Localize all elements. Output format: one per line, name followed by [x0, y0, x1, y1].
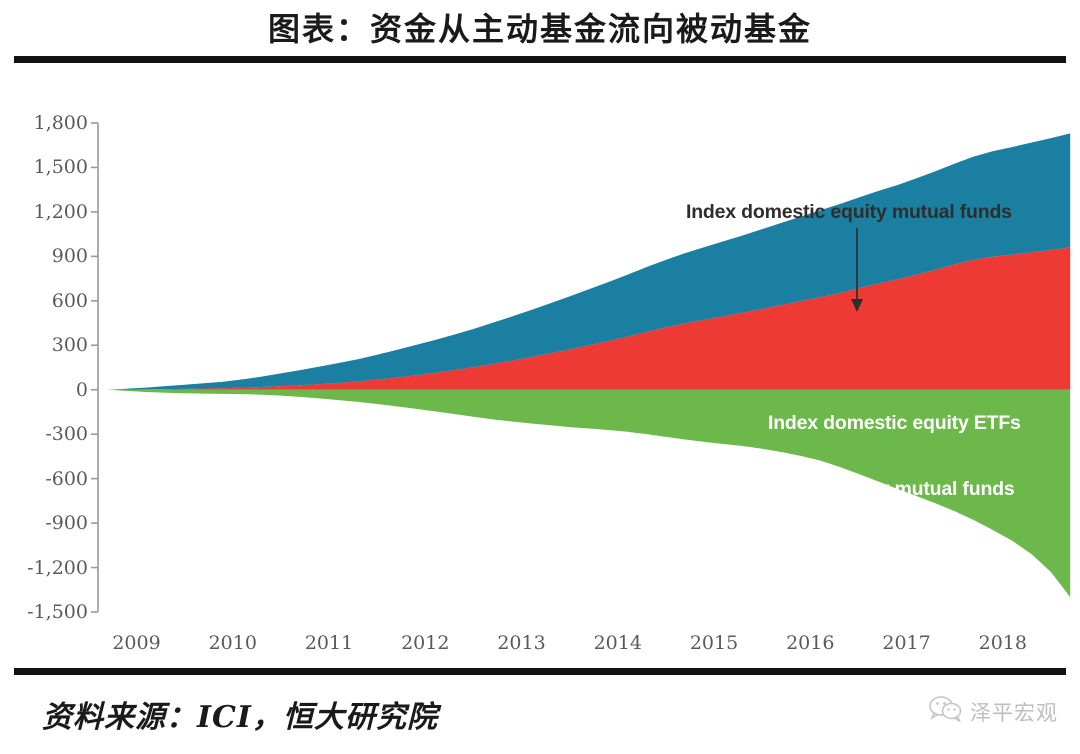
wechat-icon — [929, 696, 963, 727]
series-label-index-mutual-funds: Index domestic equity mutual funds — [686, 201, 1012, 224]
header-divider — [14, 56, 1066, 63]
x-axis-tick: 2018 — [958, 634, 1048, 653]
x-axis-tick: 2013 — [477, 634, 567, 653]
header: 图表：资金从主动基金流向被动基金 — [0, 0, 1080, 62]
x-axis-tick: 2010 — [188, 634, 278, 653]
watermark: 泽平宏观 — [929, 696, 1058, 727]
y-axis-tick: 300 — [16, 336, 88, 355]
y-axis-tick: -600 — [16, 470, 88, 489]
footer-divider — [14, 668, 1066, 675]
y-axis-tick: 900 — [16, 247, 88, 266]
page-title: 图表：资金从主动基金流向被动基金 — [0, 4, 1080, 50]
axis-group — [91, 123, 98, 612]
x-axis-tick: 2017 — [862, 634, 952, 653]
y-axis-tick: 1,500 — [16, 158, 88, 177]
y-axis-tick: 1,200 — [16, 203, 88, 222]
y-axis-tick: -1,200 — [16, 559, 88, 578]
series-label-index-etfs: Index domestic equity ETFs — [768, 412, 1021, 435]
y-axis-tick: -300 — [16, 425, 88, 444]
series-label-actively-managed: Actively managed domestic equity mutual … — [576, 478, 1015, 501]
y-axis-tick: 0 — [16, 381, 88, 400]
x-axis-tick: 2015 — [669, 634, 759, 653]
area-chart-plot — [0, 70, 1080, 660]
y-axis-tick: 600 — [16, 292, 88, 311]
y-axis-tick: 1,800 — [16, 114, 88, 133]
x-axis-tick: 2014 — [573, 634, 663, 653]
source-note: 资料来源：ICI，恒大研究院 — [42, 692, 438, 736]
x-axis-tick: 2009 — [92, 634, 182, 653]
y-axis-tick: -900 — [16, 514, 88, 533]
x-axis-tick: 2011 — [284, 634, 374, 653]
watermark-label: 泽平宏观 — [970, 697, 1058, 727]
x-axis-tick: 2012 — [380, 634, 470, 653]
chart-canvas: 1,8001,5001,2009006003000-300-600-900-1,… — [0, 70, 1080, 660]
x-axis-tick: 2016 — [765, 634, 855, 653]
y-axis-tick: -1,500 — [16, 603, 88, 622]
